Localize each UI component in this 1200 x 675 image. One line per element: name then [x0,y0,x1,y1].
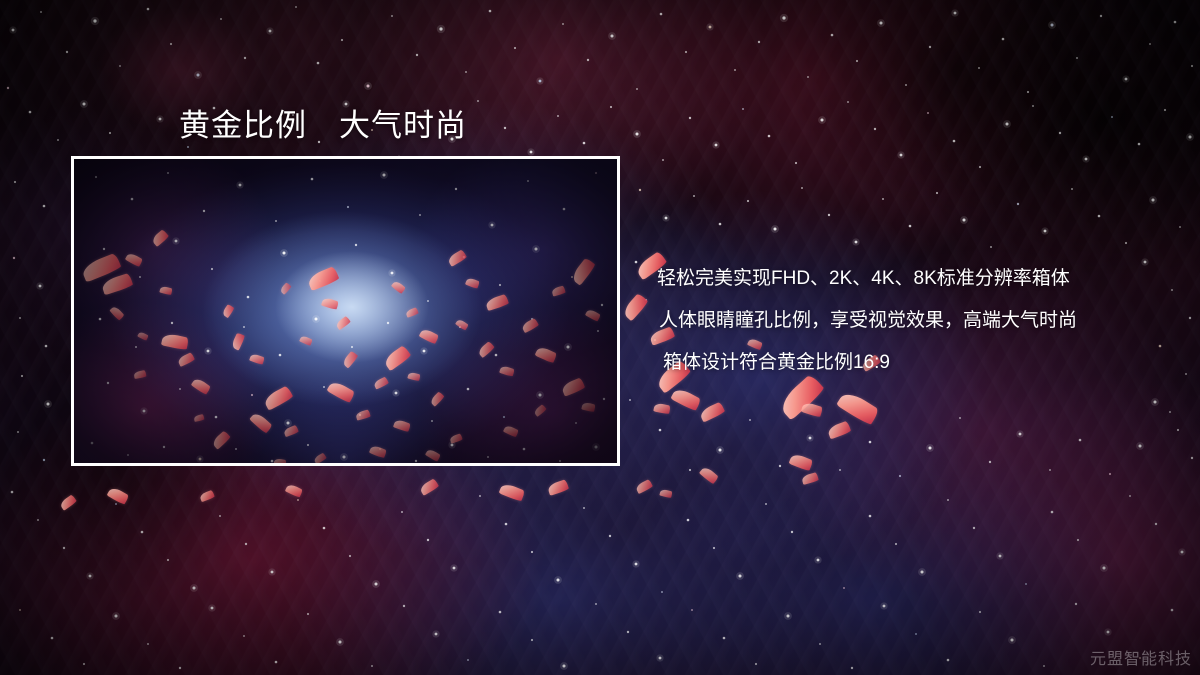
presentation-slide: 黄金比例 大气时尚 轻松完美实现FHD、2K、4K、8K标准分辨率箱体 人体眼睛… [0,0,1200,675]
panel-vignette [74,159,617,463]
company-watermark: 元盟智能科技 [1090,645,1192,669]
slide-title: 黄金比例 大气时尚 [179,100,467,145]
description-line-1: 轻松完美实现FHD、2K、4K、8K标准分辨率箱体 [657,258,1157,300]
description-line-2: 人体眼睛瞳孔比例，享受视觉效果，高端大气时尚 [657,300,1157,342]
description-line-3: 箱体设计符合黄金比例16:9 [657,342,1157,384]
galaxy-preview-panel [71,156,620,466]
feature-description-block: 轻松完美实现FHD、2K、4K、8K标准分辨率箱体 人体眼睛瞳孔比例，享受视觉效… [657,258,1157,384]
